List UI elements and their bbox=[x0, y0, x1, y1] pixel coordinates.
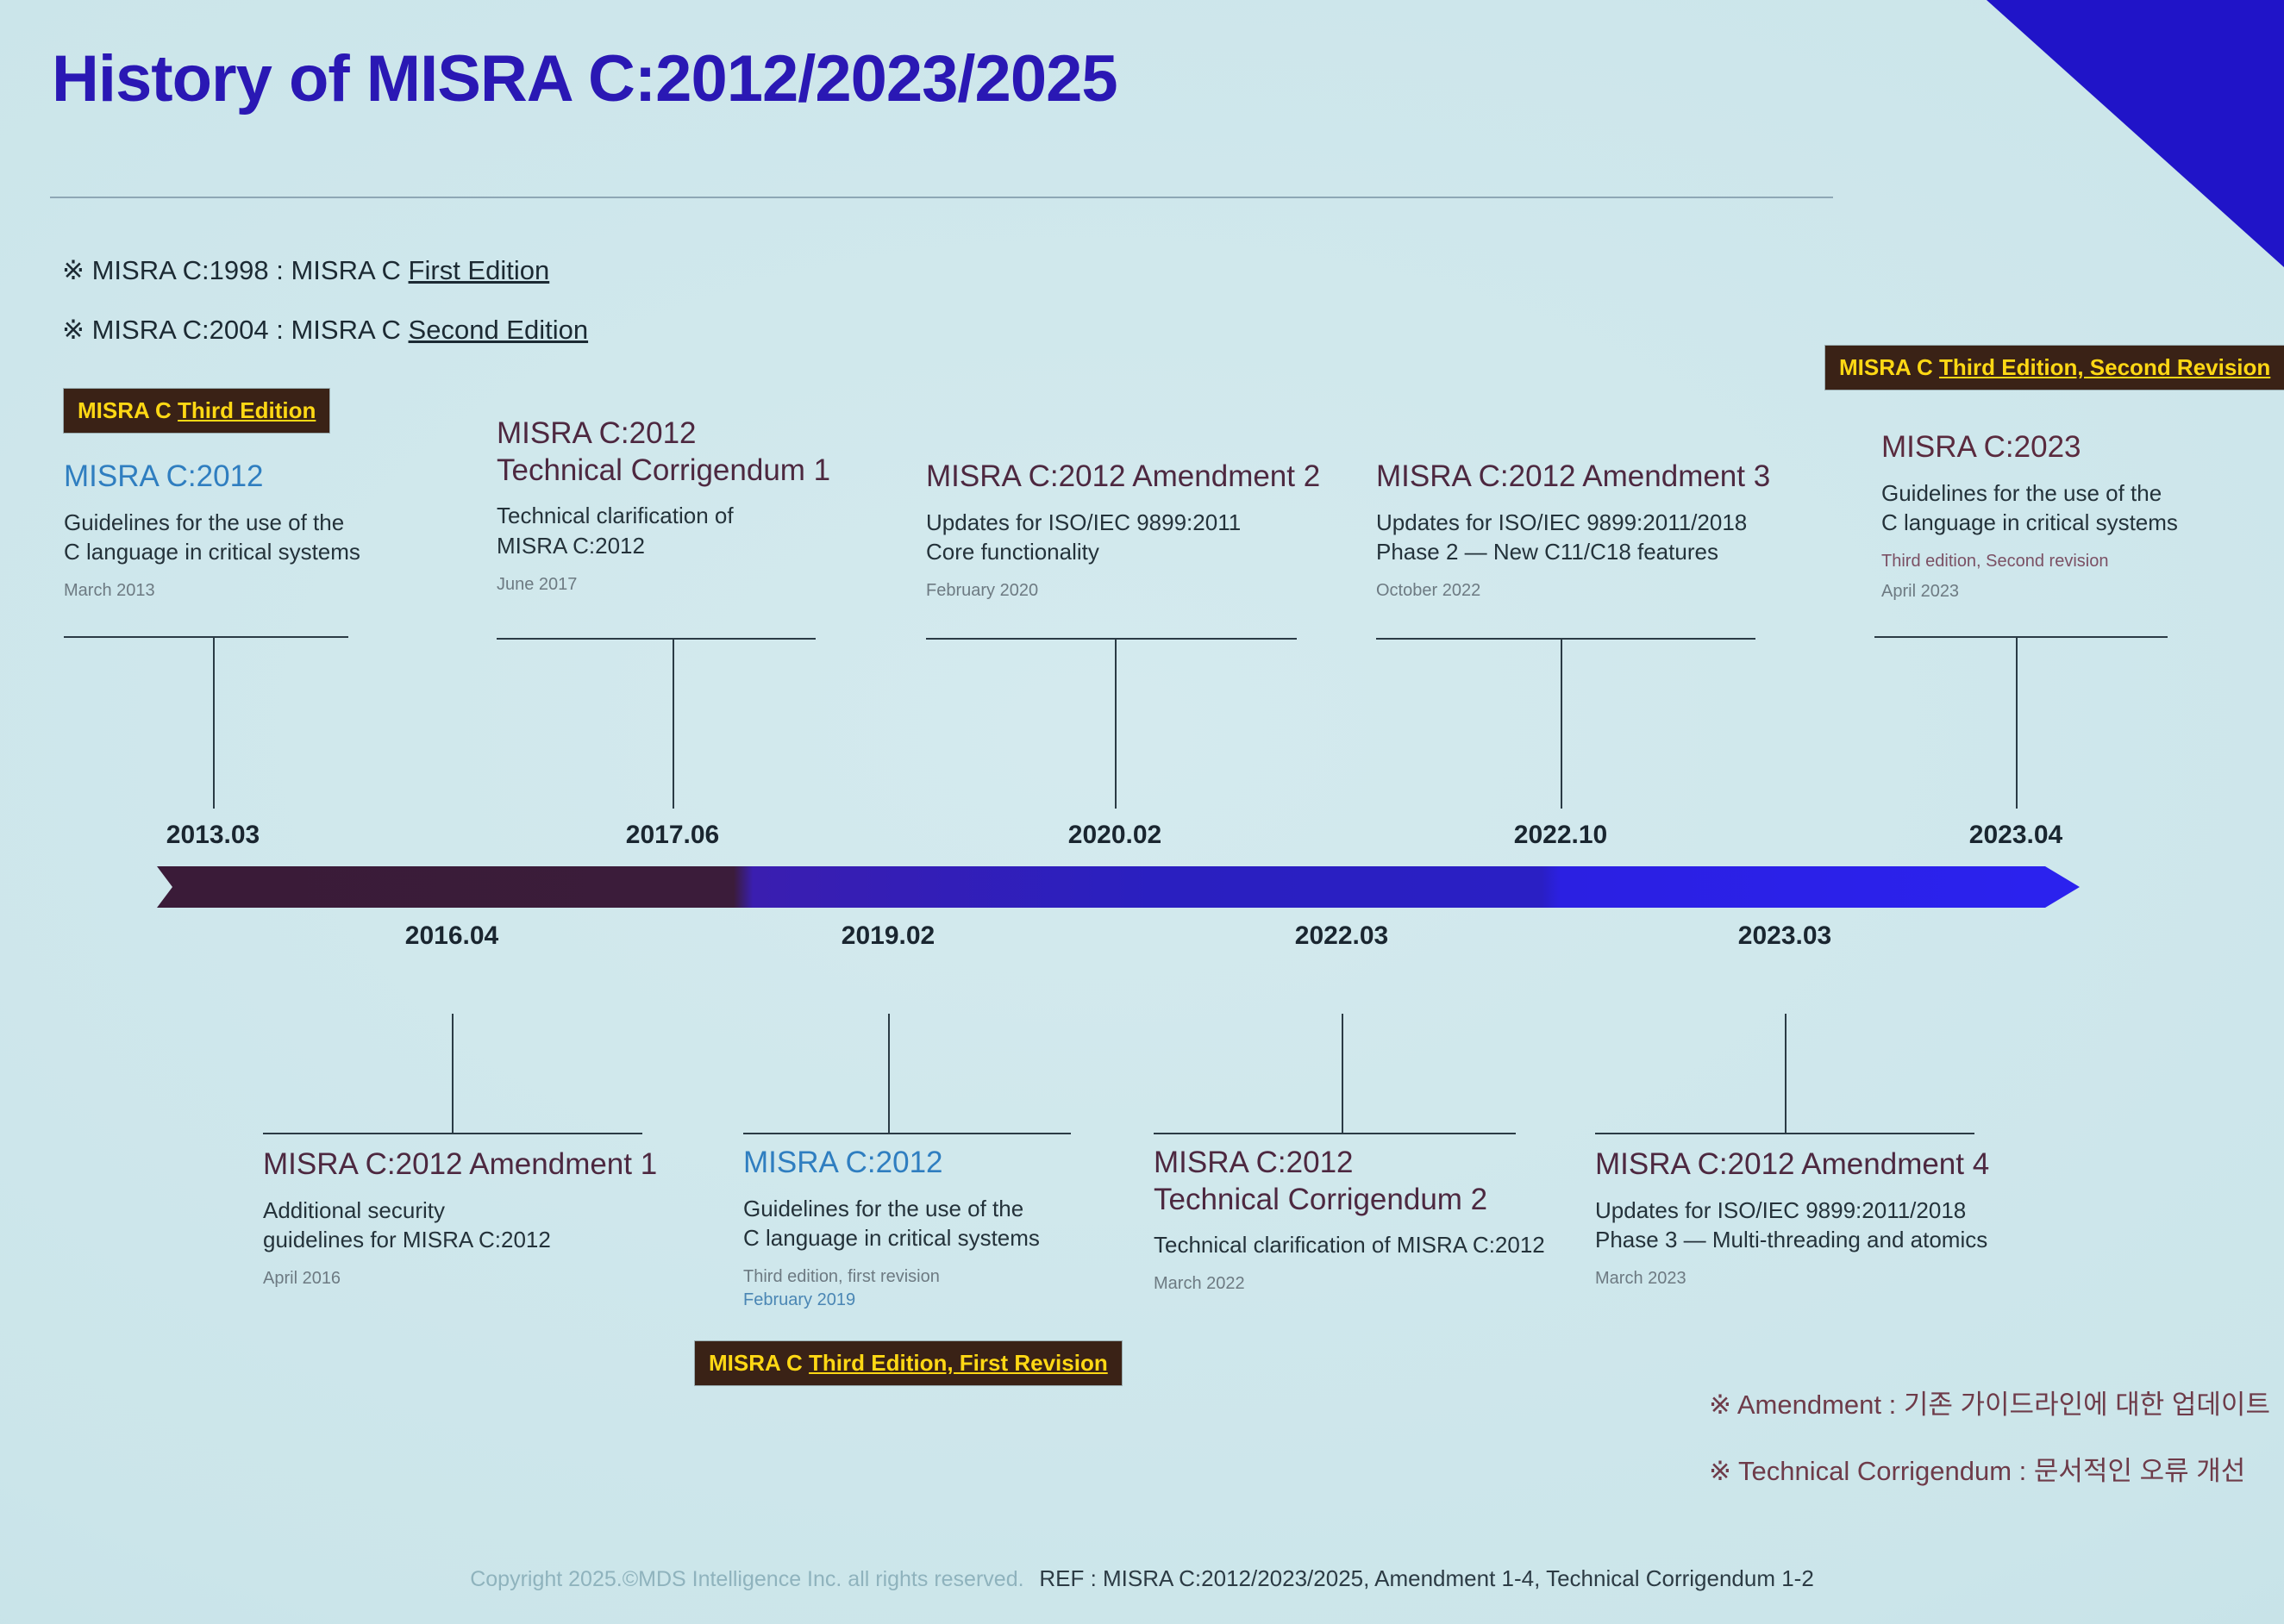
event-above-4-date: April 2023 bbox=[1881, 580, 2252, 603]
event-above-4-title: MISRA C:2023 bbox=[1881, 429, 2252, 466]
connector-stem-above-0 bbox=[213, 636, 215, 809]
connector-rule-above-4 bbox=[1874, 636, 2168, 638]
event-below-2: MISRA C:2012 Technical Corrigendum 2 Tec… bbox=[1154, 1145, 1550, 1296]
event-below-3-title: MISRA C:2012 Amendment 4 bbox=[1595, 1146, 2000, 1184]
event-above-2: MISRA C:2012 Amendment 2 Updates for ISO… bbox=[926, 459, 1314, 603]
connector-stem-above-1 bbox=[673, 638, 674, 809]
tick-below-3: 2023.03 bbox=[1738, 921, 1831, 951]
event-below-2-title-2: Technical Corrigendum 2 bbox=[1154, 1182, 1550, 1219]
event-above-4-desc-1: Guidelines for the use of the bbox=[1881, 478, 2252, 509]
event-above-0-desc-2: C language in critical systems bbox=[64, 537, 426, 567]
event-below-1-desc-1: Guidelines for the use of the bbox=[743, 1194, 1088, 1224]
connector-stem-below-1 bbox=[888, 1014, 890, 1133]
note-second-edition-underlined: Second Edition bbox=[409, 315, 589, 345]
event-above-3-desc-1: Updates for ISO/IEC 9899:2011/2018 bbox=[1376, 508, 1773, 538]
tick-below-0: 2016.04 bbox=[405, 921, 498, 951]
event-below-2-date: March 2022 bbox=[1154, 1272, 1550, 1296]
badge-tefr-underlined: Third Edition, First Revision bbox=[809, 1350, 1108, 1376]
event-below-0-desc-2: guidelines for MISRA C:2012 bbox=[263, 1225, 651, 1255]
note-first-edition-underlined: First Edition bbox=[409, 255, 550, 285]
connector-rule-above-2 bbox=[926, 638, 1297, 640]
event-above-2-date: February 2020 bbox=[926, 579, 1314, 603]
event-above-0-desc-1: Guidelines for the use of the bbox=[64, 508, 426, 538]
note-second-edition: ※ MISRA C:2004 : MISRA C Second Edition bbox=[62, 315, 588, 346]
event-below-1-date: February 2019 bbox=[743, 1289, 1088, 1312]
tick-below-2: 2022.03 bbox=[1295, 921, 1388, 951]
badge-tesr-prefix: MISRA C bbox=[1839, 354, 1939, 380]
event-below-3-desc-2: Phase 3 — Multi-threading and atomics bbox=[1595, 1225, 2000, 1255]
connector-stem-above-3 bbox=[1561, 638, 1562, 809]
timeline-bar bbox=[157, 866, 2080, 908]
tick-above-0: 2013.03 bbox=[166, 821, 260, 850]
connector-rule-above-1 bbox=[497, 638, 816, 640]
event-above-1-desc-1: Technical clarification of bbox=[497, 501, 867, 531]
connector-stem-below-0 bbox=[452, 1014, 454, 1133]
badge-tesr-underlined: Third Edition, Second Revision bbox=[1939, 354, 2270, 380]
connector-rule-below-0 bbox=[263, 1133, 642, 1134]
legend-amendment: ※ Amendment : 기존 가이드라인에 대한 업데이트 bbox=[1709, 1383, 2270, 1421]
event-above-2-desc-2: Core functionality bbox=[926, 537, 1314, 567]
note-first-edition-prefix: ※ MISRA C:1998 : MISRA C bbox=[62, 255, 409, 285]
corner-accent-triangle bbox=[1987, 0, 2284, 267]
tick-above-4: 2023.04 bbox=[1969, 821, 2062, 850]
title-divider bbox=[50, 197, 1833, 198]
tick-below-1: 2019.02 bbox=[842, 921, 935, 951]
event-below-3: MISRA C:2012 Amendment 4 Updates for ISO… bbox=[1595, 1146, 2000, 1290]
event-above-3-date: October 2022 bbox=[1376, 579, 1773, 603]
footer-reference: REF : MISRA C:2012/2023/2025, Amendment … bbox=[1039, 1565, 1813, 1591]
tick-above-2: 2020.02 bbox=[1068, 821, 1161, 850]
connector-stem-below-2 bbox=[1342, 1014, 1343, 1133]
event-below-3-desc-1: Updates for ISO/IEC 9899:2011/2018 bbox=[1595, 1196, 2000, 1226]
event-below-2-title-1: MISRA C:2012 bbox=[1154, 1145, 1550, 1182]
event-above-3-desc-2: Phase 2 — New C11/C18 features bbox=[1376, 537, 1773, 567]
event-above-1-desc-2: MISRA C:2012 bbox=[497, 531, 867, 561]
page-title: History of MISRA C:2012/2023/2025 bbox=[52, 41, 1117, 116]
event-above-0-title: MISRA C:2012 bbox=[64, 459, 426, 496]
tick-above-1: 2017.06 bbox=[626, 821, 719, 850]
event-below-1-sub: Third edition, first revision bbox=[743, 1265, 1088, 1289]
event-below-0-title: MISRA C:2012 Amendment 1 bbox=[263, 1146, 651, 1184]
event-below-1-desc-2: C language in critical systems bbox=[743, 1223, 1088, 1253]
connector-stem-above-4 bbox=[2016, 636, 2018, 809]
note-first-edition: ※ MISRA C:1998 : MISRA C First Edition bbox=[62, 255, 549, 286]
badge-third-edition: MISRA C Third Edition bbox=[64, 389, 329, 433]
footer: Copyright 2025.©MDS Intelligence Inc. al… bbox=[0, 1565, 2284, 1592]
event-above-0: MISRA C:2012 Guidelines for the use of t… bbox=[64, 459, 426, 603]
event-below-3-date: March 2023 bbox=[1595, 1267, 2000, 1290]
slide-canvas bbox=[0, 0, 2284, 1624]
badge-third-edition-first-revision: MISRA C Third Edition, First Revision bbox=[695, 1341, 1122, 1385]
event-above-4-sub: Third edition, Second revision bbox=[1881, 550, 2252, 573]
event-below-1: MISRA C:2012 Guidelines for the use of t… bbox=[743, 1145, 1088, 1312]
connector-rule-below-1 bbox=[743, 1133, 1071, 1134]
connector-rule-above-3 bbox=[1376, 638, 1755, 640]
event-above-1: MISRA C:2012 Technical Corrigendum 1 Tec… bbox=[497, 415, 867, 597]
connector-rule-below-3 bbox=[1595, 1133, 1974, 1134]
event-above-1-title-2: Technical Corrigendum 1 bbox=[497, 453, 867, 490]
badge-tefr-prefix: MISRA C bbox=[709, 1350, 809, 1376]
legend-technical-corrigendum: ※ Technical Corrigendum : 문서적인 오류 개선 bbox=[1709, 1449, 2245, 1488]
event-below-0: MISRA C:2012 Amendment 1 Additional secu… bbox=[263, 1146, 651, 1290]
badge-third-edition-prefix: MISRA C bbox=[78, 397, 178, 423]
timeline-bar-fill bbox=[157, 866, 2080, 908]
connector-stem-below-3 bbox=[1785, 1014, 1787, 1133]
connector-rule-above-0 bbox=[64, 636, 348, 638]
note-second-edition-prefix: ※ MISRA C:2004 : MISRA C bbox=[62, 315, 409, 345]
event-below-0-desc-1: Additional security bbox=[263, 1196, 651, 1226]
event-above-1-date: June 2017 bbox=[497, 573, 867, 597]
tick-above-3: 2022.10 bbox=[1514, 821, 1607, 850]
event-above-2-title: MISRA C:2012 Amendment 2 bbox=[926, 459, 1314, 496]
event-above-3-title: MISRA C:2012 Amendment 3 bbox=[1376, 459, 1773, 496]
footer-copyright: Copyright 2025.©MDS Intelligence Inc. al… bbox=[470, 1567, 1023, 1591]
event-above-0-date: March 2013 bbox=[64, 579, 426, 603]
event-above-4-desc-2: C language in critical systems bbox=[1881, 508, 2252, 538]
badge-third-edition-second-revision: MISRA C Third Edition, Second Revision bbox=[1825, 346, 2284, 390]
event-above-1-title-1: MISRA C:2012 bbox=[497, 415, 867, 453]
event-below-0-date: April 2016 bbox=[263, 1267, 651, 1290]
connector-rule-below-2 bbox=[1154, 1133, 1516, 1134]
event-above-4: MISRA C:2023 Guidelines for the use of t… bbox=[1881, 429, 2252, 603]
event-above-2-desc-1: Updates for ISO/IEC 9899:2011 bbox=[926, 508, 1314, 538]
connector-stem-above-2 bbox=[1115, 638, 1117, 809]
event-below-2-desc-1: Technical clarification of MISRA C:2012 bbox=[1154, 1230, 1550, 1260]
event-below-1-title: MISRA C:2012 bbox=[743, 1145, 1088, 1182]
event-above-3: MISRA C:2012 Amendment 3 Updates for ISO… bbox=[1376, 459, 1773, 603]
badge-third-edition-underlined: Third Edition bbox=[178, 397, 316, 423]
